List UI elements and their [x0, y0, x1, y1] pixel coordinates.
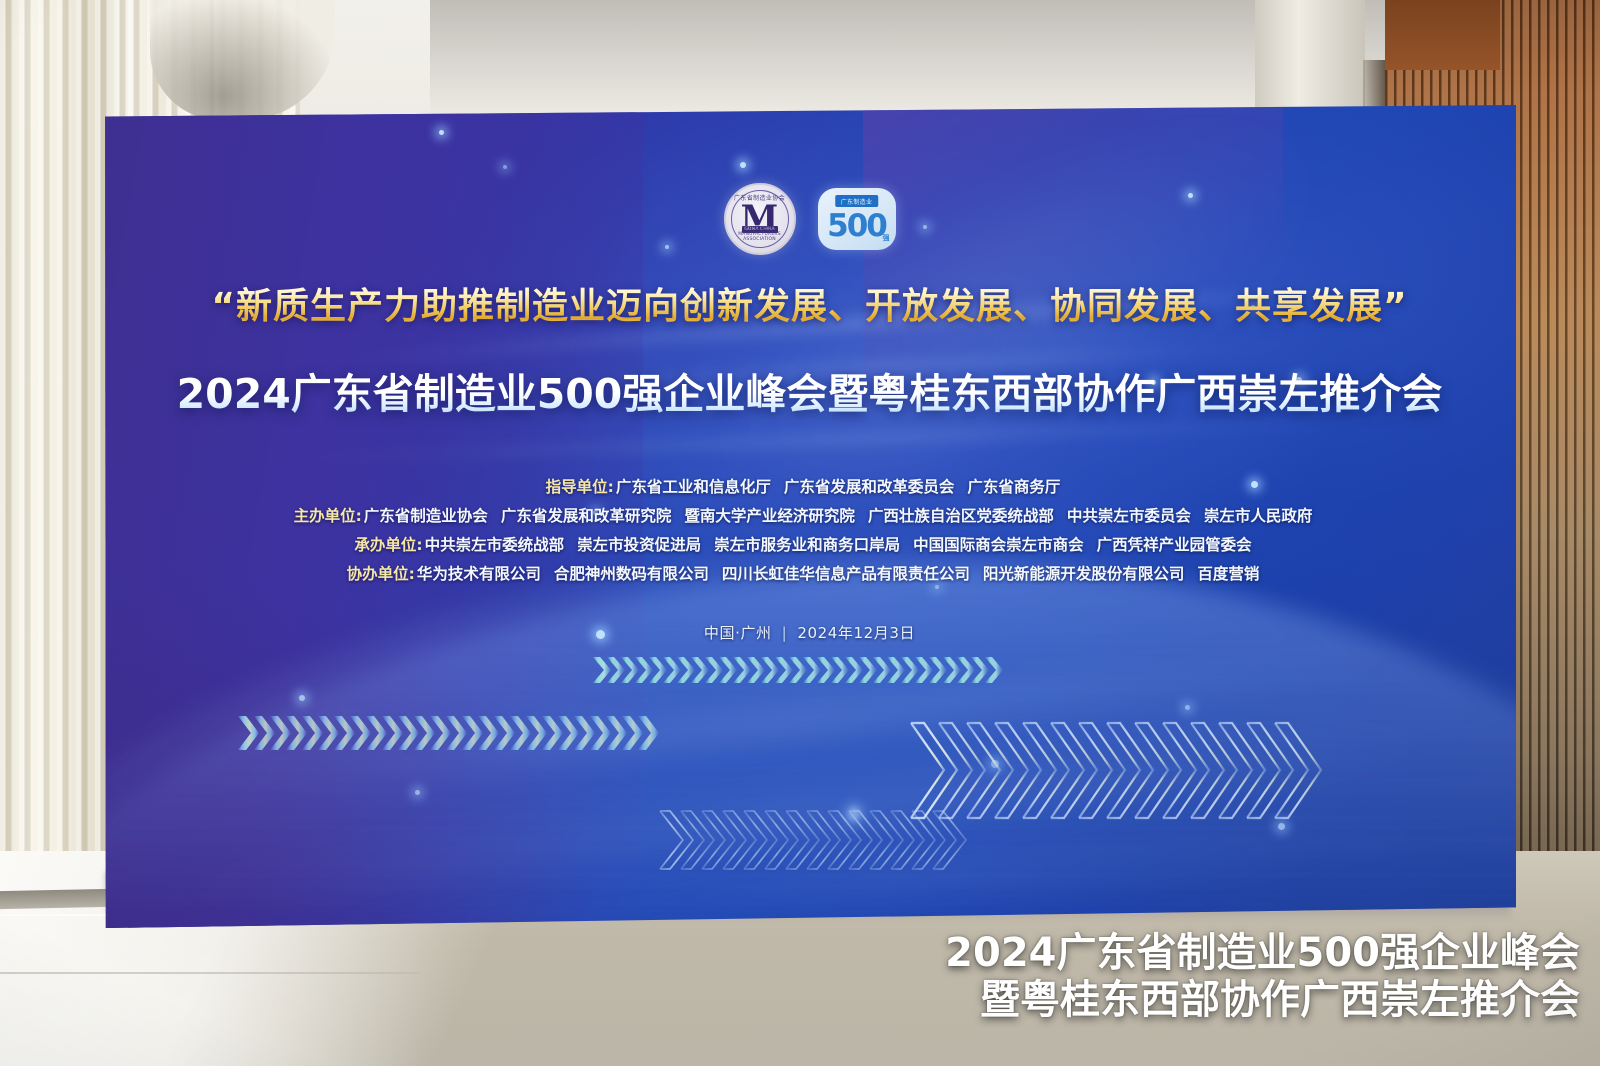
badge-banner-text: 广东制造业: [835, 195, 879, 207]
chevron-band-mid-left: [238, 713, 668, 753]
organizer-item: 广东省制造业协会: [364, 507, 488, 525]
organizer-item: 阳光新能源开发股份有限公司: [983, 565, 1185, 583]
organizer-item: 中国国际商会崇左市商会: [913, 536, 1084, 554]
wood-header-panel: [1385, 0, 1500, 70]
organizer-items: 广东省工业和信息化厅广东省发展和改革委员会广东省商务厅: [616, 478, 1074, 496]
caption-line-1: 2024广东省制造业500强企业峰会: [945, 930, 1580, 977]
organizer-label: 主办单位:: [294, 507, 362, 525]
bokeh-dot: [1185, 705, 1190, 710]
organizer-label: 协办单位:: [347, 565, 415, 583]
emblem-en-text: GUANGDONG MANUFACTURERS ASSOCIATION: [726, 227, 794, 242]
bokeh-dot: [415, 790, 420, 795]
organizer-item: 广东省工业和信息化厅: [616, 478, 771, 496]
location-date-separator: |: [782, 624, 788, 642]
organizer-item: 暨南大学产业经济研究院: [684, 507, 855, 525]
gdma-emblem-icon: 广东省制造业协会 M GDMA CHINA GUANGDONG MANUFACT…: [724, 183, 796, 255]
organizer-item: 广西凭祥产业园管委会: [1097, 536, 1252, 554]
organizer-item: 广东省商务厅: [967, 478, 1060, 496]
organizer-label: 指导单位:: [546, 478, 614, 496]
emblem-cn-text: 广东省制造业协会: [726, 193, 794, 202]
location-date-bar: 中国·广州|2024年12月3日: [103, 622, 1516, 643]
organizer-items: 中共崇左市委统战部崇左市投资促进局崇左市服务业和商务口岸局中国国际商会崇左市商会…: [425, 536, 1265, 554]
backdrop-main-title: 2024广东省制造业500强企业峰会暨粤桂东西部协作广西崇左推介会: [103, 360, 1516, 420]
chevron-band-small-top: [593, 655, 1013, 685]
organizer-item: 中共崇左市委统战部: [425, 536, 565, 554]
backdrop-subtitle: “新质生产力助推制造业迈向创新发展、开放发展、协同发展、共享发展”: [103, 277, 1516, 329]
organizer-label: 承办单位:: [354, 536, 422, 554]
organizer-row: 主办单位:广东省制造业协会广东省发展和改革研究院暨南大学产业经济研究院广西壮族自…: [294, 504, 1326, 528]
badge-number: 500: [827, 211, 886, 242]
organizer-items: 广东省制造业协会广东省发展和改革研究院暨南大学产业经济研究院广西壮族自治区党委统…: [364, 507, 1326, 525]
organizer-row: 指导单位:广东省工业和信息化厅广东省发展和改革委员会广东省商务厅: [546, 475, 1074, 499]
top500-badge-icon: 广东制造业 500 强: [818, 188, 896, 250]
badge-suffix: 强: [883, 233, 890, 243]
chevron-band-lower-middle: [658, 805, 988, 875]
floor-seam-2: [0, 972, 420, 974]
bokeh-dot: [439, 130, 444, 135]
organizer-item: 崇左市投资促进局: [577, 536, 701, 554]
location-text: 中国·广州: [704, 624, 772, 642]
organizer-list: 指导单位:广东省工业和信息化厅广东省发展和改革委员会广东省商务厅 主办单位:广东…: [103, 475, 1516, 586]
upper-pillar: [1255, 0, 1365, 120]
organizer-item: 广西壮族自治区党委统战部: [868, 507, 1054, 525]
organizer-item: 华为技术有限公司: [417, 565, 541, 583]
logo-row: 广东省制造业协会 M GDMA CHINA GUANGDONG MANUFACT…: [103, 183, 1516, 255]
organizer-item: 百度营销: [1197, 565, 1259, 583]
organizer-item: 广东省发展和改革委员会: [784, 478, 955, 496]
photo-caption-overlay: 2024广东省制造业500强企业峰会 暨粤桂东西部协作广西崇左推介会: [945, 930, 1580, 1024]
date-text: 2024年12月3日: [797, 624, 915, 642]
organizer-item: 崇左市服务业和商务口岸局: [714, 536, 900, 554]
organizer-row: 协办单位:华为技术有限公司合肥神州数码有限公司四川长虹佳华信息产品有限责任公司阳…: [347, 562, 1273, 586]
event-backdrop-board: 广东省制造业协会 M GDMA CHINA GUANGDONG MANUFACT…: [103, 105, 1516, 928]
bokeh-dot: [503, 165, 507, 169]
organizer-item: 广东省发展和改革研究院: [501, 507, 672, 525]
photo-scene: 广东省制造业协会 M GDMA CHINA GUANGDONG MANUFACT…: [0, 0, 1600, 1066]
bokeh-dot: [740, 162, 746, 168]
bokeh-dot: [299, 695, 305, 701]
organizer-item: 中共崇左市委员会: [1067, 507, 1191, 525]
organizer-items: 华为技术有限公司合肥神州数码有限公司四川长虹佳华信息产品有限责任公司阳光新能源开…: [417, 565, 1273, 583]
organizer-item: 崇左市人民政府: [1204, 507, 1313, 525]
caption-line-2: 暨粤桂东西部协作广西崇左推介会: [945, 977, 1580, 1024]
organizer-item: 四川长虹佳华信息产品有限责任公司: [722, 565, 970, 583]
organizer-item: 合肥神州数码有限公司: [554, 565, 709, 583]
organizer-row: 承办单位:中共崇左市委统战部崇左市投资促进局崇左市服务业和商务口岸局中国国际商会…: [354, 533, 1264, 557]
